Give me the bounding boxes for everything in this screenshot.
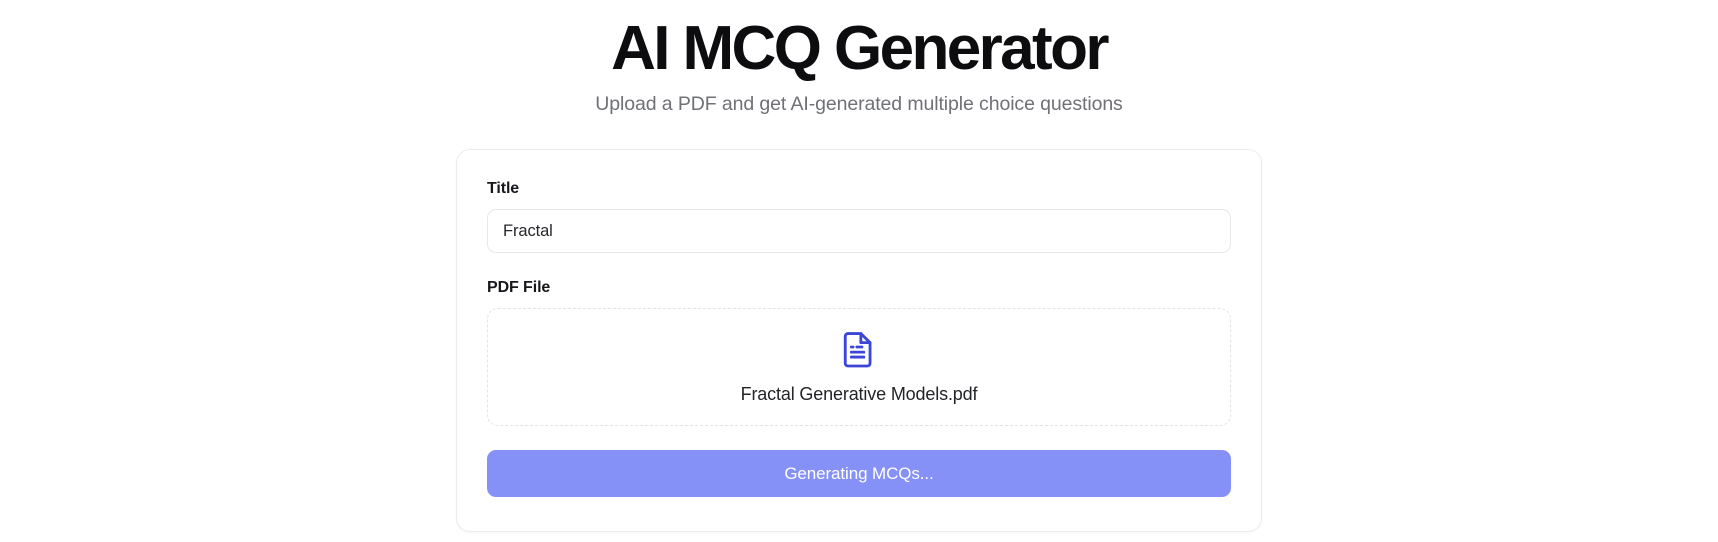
field-spacer	[487, 253, 1231, 279]
pdf-dropzone[interactable]: Fractal Generative Models.pdf	[487, 308, 1231, 426]
document-icon	[842, 330, 876, 373]
page-subtitle: Upload a PDF and get AI-generated multip…	[595, 93, 1122, 116]
mcq-form-card: Title PDF File Fractal Generative Models…	[456, 149, 1262, 532]
generate-mcqs-button[interactable]: Generating MCQs...	[487, 450, 1231, 497]
title-field-label: Title	[487, 180, 1231, 198]
title-input[interactable]	[487, 209, 1231, 253]
app-root: AI MCQ Generator Upload a PDF and get AI…	[0, 0, 1718, 542]
page-title: AI MCQ Generator	[611, 14, 1107, 83]
selected-file-name: Fractal Generative Models.pdf	[741, 384, 978, 405]
pdf-field-label: PDF File	[487, 279, 1231, 297]
